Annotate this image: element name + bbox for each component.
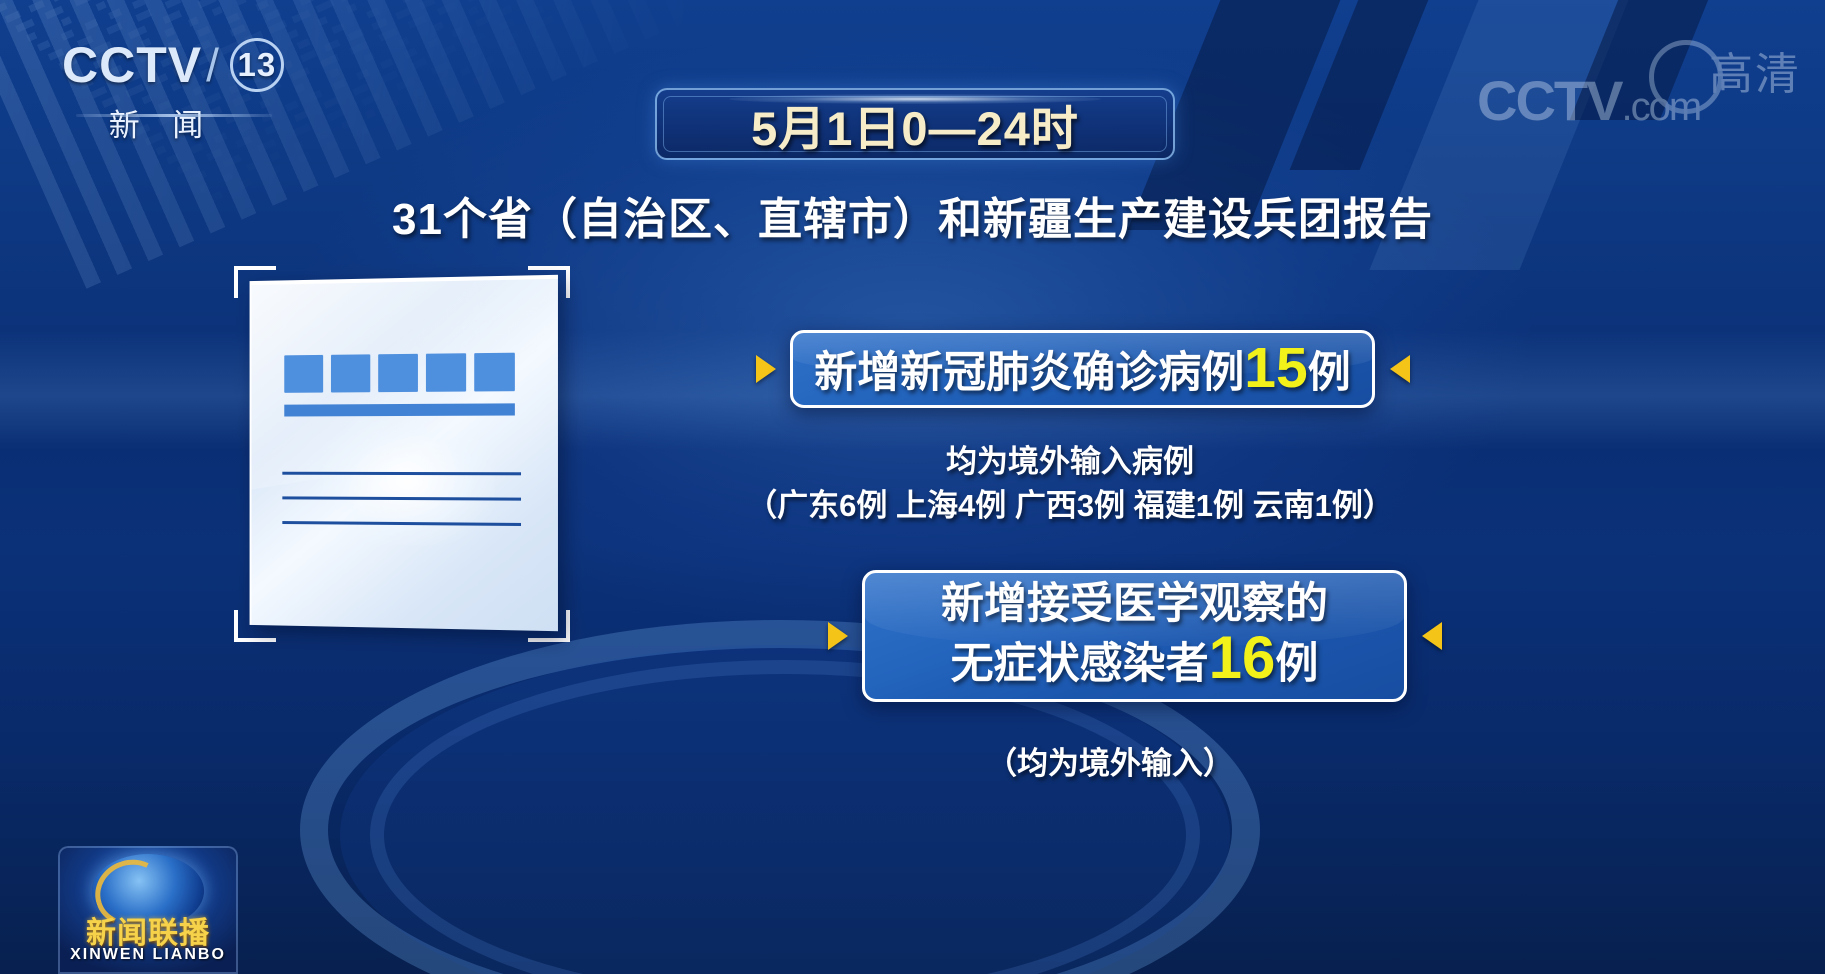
document-text-lines bbox=[282, 472, 521, 549]
stat-box-confirmed-value: 15 bbox=[1244, 336, 1307, 400]
triangle-left-icon-box2 bbox=[1422, 622, 1442, 650]
watermark-site-label: CCTV.com bbox=[1477, 68, 1700, 133]
watermark-cctv-text: CCTV bbox=[1477, 69, 1621, 132]
document-block bbox=[426, 353, 466, 392]
channel-logo-subtitle: 新 闻 bbox=[62, 100, 262, 145]
document-block bbox=[378, 354, 418, 392]
document-block bbox=[284, 355, 323, 393]
stat-box-confirmed-label: 新增新冠肺炎确诊病例 bbox=[814, 349, 1244, 397]
channel-logo-slash: / bbox=[206, 38, 220, 92]
document-block-row bbox=[284, 353, 515, 393]
channel-logo-mark: CCTV / 13 bbox=[62, 36, 292, 94]
program-logo-name-en: XINWEN LIANBO bbox=[58, 946, 238, 964]
asymptomatic-note-line1: （均为境外输入） bbox=[780, 738, 1440, 783]
stat-box-asymptomatic-cases: 新增接受医学观察的 无症状感染者16例 bbox=[862, 570, 1407, 702]
stat-box-confirmed-cases: 新增新冠肺炎确诊病例15例 bbox=[790, 330, 1375, 408]
document-line bbox=[282, 521, 521, 526]
cctv-com-watermark: 高清 CCTV.com bbox=[1477, 34, 1807, 139]
document-line bbox=[282, 496, 521, 500]
channel-logo-number: 13 bbox=[230, 38, 284, 92]
channel-logo-cctv-text: CCTV bbox=[62, 36, 202, 94]
triangle-left-icon-box1 bbox=[1390, 355, 1410, 383]
triangle-right-icon-box2 bbox=[828, 622, 848, 650]
stat-box-asymptomatic-unit: 例 bbox=[1275, 640, 1318, 688]
confirmed-cases-note-line2: （广东6例 上海4例 广西3例 福建1例 云南1例） bbox=[640, 480, 1500, 525]
channel-logo: CCTV / 13 新 闻 bbox=[62, 36, 292, 146]
stat-box-asymptomatic-value: 16 bbox=[1209, 624, 1276, 691]
stat-box-asymptomatic-line1: 新增接受医学观察的 bbox=[941, 582, 1328, 627]
page-title: 31个省（自治区、直辖市）和新疆生产建设兵团报告 bbox=[0, 183, 1825, 247]
document-line bbox=[282, 472, 521, 476]
document-bar bbox=[284, 403, 515, 416]
triangle-right-icon-box1 bbox=[756, 355, 776, 383]
watermark-hd-label: 高清 bbox=[1709, 38, 1801, 102]
date-banner-text: 5月1日0—24时 bbox=[751, 90, 1079, 159]
document-illustration bbox=[246, 278, 556, 628]
program-logo: 新闻联播 XINWEN LIANBO bbox=[58, 846, 238, 974]
stat-box-asymptomatic-label: 无症状感染者 bbox=[951, 640, 1209, 688]
broadcast-graphic-stage: CCTV / 13 新 闻 高清 CCTV.com 5月1日0—24时 31个省… bbox=[0, 0, 1825, 974]
document-sheet bbox=[250, 275, 558, 631]
channel-logo-underline bbox=[76, 114, 272, 117]
date-banner: 5月1日0—24时 bbox=[655, 88, 1175, 160]
stat-box-asymptomatic-text: 新增接受医学观察的 无症状感染者16例 bbox=[941, 582, 1328, 689]
document-block bbox=[474, 353, 515, 392]
document-block bbox=[331, 354, 370, 392]
stat-box-confirmed-text: 新增新冠肺炎确诊病例15例 bbox=[814, 339, 1350, 398]
watermark-domain-text: .com bbox=[1621, 85, 1700, 129]
confirmed-cases-note-line1: 均为境外输入病例 bbox=[700, 436, 1440, 481]
stat-box-asymptomatic-line2: 无症状感染者16例 bbox=[941, 627, 1328, 689]
stat-box-confirmed-unit: 例 bbox=[1308, 349, 1351, 397]
